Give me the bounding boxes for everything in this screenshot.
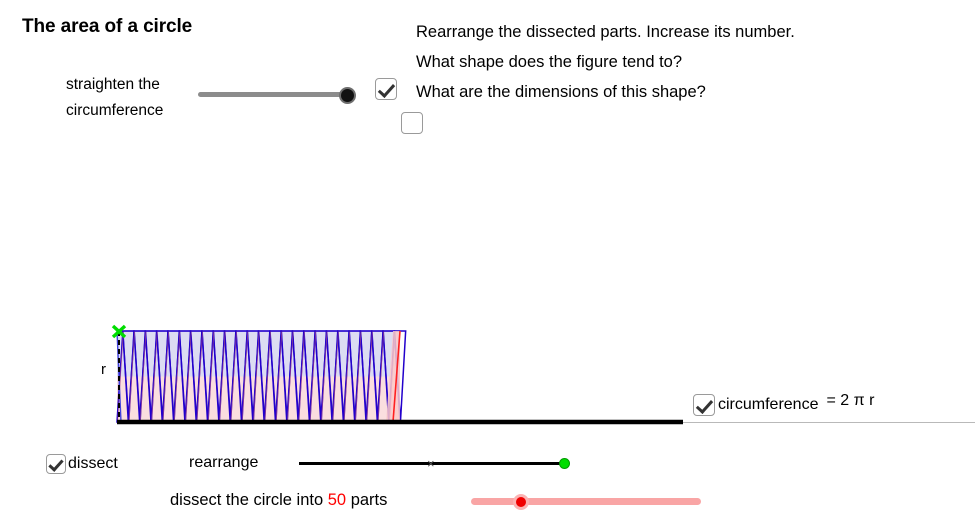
prompt-block: Rearrange the dissected parts. Increase … bbox=[416, 17, 795, 107]
page-title: The area of a circle bbox=[22, 16, 192, 38]
circumference-label: circumference bbox=[718, 396, 818, 413]
rearrange-slider-knob[interactable] bbox=[559, 458, 570, 469]
slider-track[interactable] bbox=[198, 92, 348, 97]
prompt-line-1: Rearrange the dissected parts. Increase … bbox=[416, 17, 795, 47]
parts-text-after: parts bbox=[351, 491, 388, 509]
circumference-equation: = 2 π r bbox=[826, 392, 874, 409]
checkbox-dissect[interactable] bbox=[46, 454, 66, 474]
parts-count-row: dissect the circle into 50 parts bbox=[170, 491, 387, 510]
straighten-label-line-1: straighten the bbox=[66, 72, 196, 98]
rearrange-slider-tick: × bbox=[427, 456, 435, 472]
parts-text-before: dissect the circle into bbox=[170, 491, 323, 509]
dissect-label: dissect bbox=[68, 455, 118, 472]
horizontal-guide-line bbox=[683, 422, 975, 423]
parts-count-slider[interactable] bbox=[471, 494, 701, 510]
prompt-line-3: What are the dimensions of this shape? bbox=[416, 77, 795, 107]
slider-knob[interactable] bbox=[339, 87, 356, 104]
straighten-label-line-2: circumference bbox=[66, 98, 196, 124]
checkbox-shape-question[interactable] bbox=[375, 78, 397, 100]
dissect-row: dissect bbox=[46, 454, 118, 474]
circumference-row: circumference= 2 π r bbox=[693, 394, 874, 416]
checkbox-extra-question[interactable] bbox=[401, 112, 423, 134]
radius-label: r bbox=[101, 361, 106, 378]
prompt-line-2: What shape does the figure tend to? bbox=[416, 47, 795, 77]
straighten-circumference-label: straighten the circumference bbox=[66, 72, 196, 124]
rearrange-slider[interactable]: × bbox=[299, 455, 571, 473]
rearrange-label: rearrange bbox=[189, 454, 258, 472]
straighten-circumference-slider[interactable] bbox=[198, 87, 356, 105]
parts-slider-track[interactable] bbox=[471, 498, 701, 505]
parts-slider-knob[interactable] bbox=[513, 494, 529, 510]
parts-count-value: 50 bbox=[328, 491, 346, 509]
checkbox-circumference[interactable] bbox=[693, 394, 715, 416]
